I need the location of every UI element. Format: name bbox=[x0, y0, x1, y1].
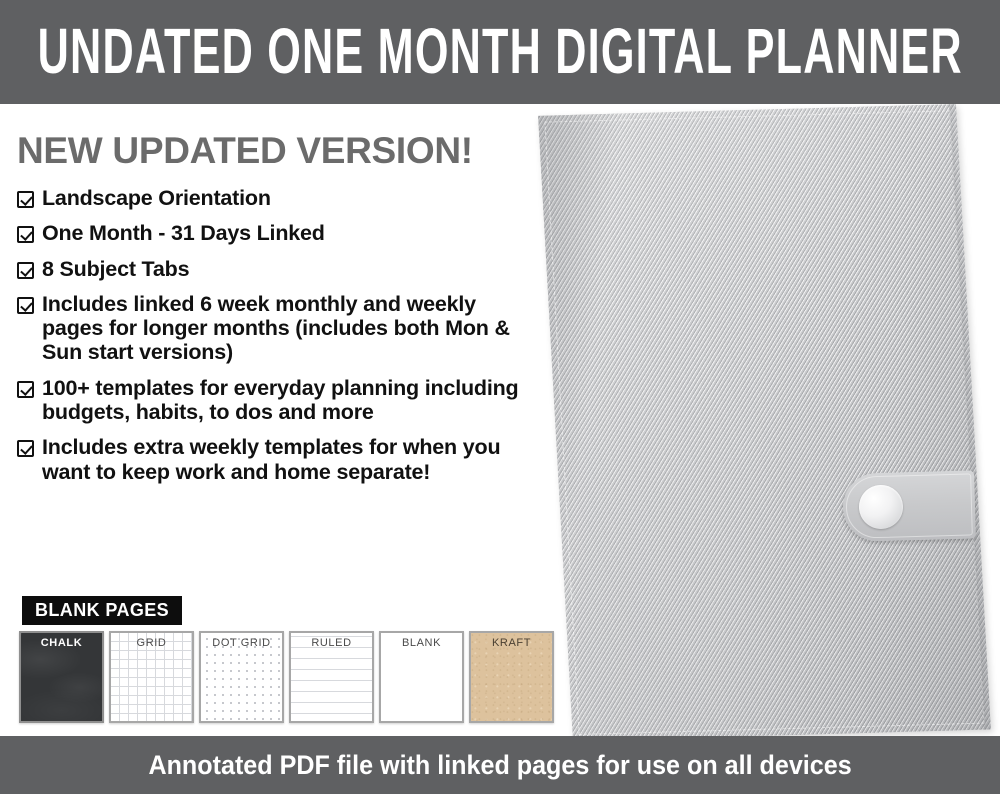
features-panel: NEW UPDATED VERSION! Landscape Orientati… bbox=[0, 104, 545, 736]
list-item: Includes linked 6 week monthly and weekl… bbox=[17, 292, 537, 365]
feature-label: Includes linked 6 week monthly and weekl… bbox=[42, 292, 537, 365]
header-banner: UNDATED ONE MONTH DIGITAL PLANNER bbox=[0, 0, 1000, 104]
strap-closure bbox=[842, 470, 976, 542]
list-item: One Month - 31 Days Linked bbox=[17, 221, 537, 245]
swatch-label: RULED bbox=[291, 638, 372, 649]
list-item: Landscape Orientation bbox=[17, 186, 537, 210]
checked-box-icon bbox=[17, 440, 34, 457]
swatch-ruled: RULED bbox=[289, 631, 374, 723]
cover-shading bbox=[538, 104, 991, 741]
swatch-chalk: CHALK bbox=[19, 631, 104, 723]
footer-banner: Annotated PDF file with linked pages for… bbox=[0, 736, 1000, 794]
page-title: UNDATED ONE MONTH DIGITAL PLANNER bbox=[37, 20, 962, 84]
feature-label: Includes extra weekly templates for when… bbox=[42, 435, 537, 484]
swatch-kraft: KRAFT bbox=[469, 631, 554, 723]
product-image bbox=[500, 104, 1000, 744]
feature-label: 8 Subject Tabs bbox=[42, 257, 189, 281]
feature-label: 100+ templates for everyday planning inc… bbox=[42, 376, 537, 425]
swatch-blank: BLANK bbox=[379, 631, 464, 723]
list-item: 100+ templates for everyday planning inc… bbox=[17, 376, 537, 425]
swatch-label: CHALK bbox=[21, 638, 102, 649]
footer-text: Annotated PDF file with linked pages for… bbox=[148, 752, 851, 779]
blank-pages-badge: BLANK PAGES bbox=[22, 596, 182, 625]
paper-swatch-row: CHALK GRID DOT GRID RULED BLANK KRAFT bbox=[19, 631, 554, 723]
feature-label: One Month - 31 Days Linked bbox=[42, 221, 325, 245]
list-item: 8 Subject Tabs bbox=[17, 257, 537, 281]
planner-cover bbox=[538, 104, 991, 741]
swatch-grid: GRID bbox=[109, 631, 194, 723]
swatch-label: BLANK bbox=[381, 638, 462, 649]
swatch-label: GRID bbox=[111, 638, 192, 649]
swatch-label: KRAFT bbox=[471, 638, 552, 649]
checked-box-icon bbox=[17, 191, 34, 208]
subheading: NEW UPDATED VERSION! bbox=[17, 132, 473, 169]
swatch-dot-grid: DOT GRID bbox=[199, 631, 284, 723]
product-listing-image: UNDATED ONE MONTH DIGITAL PLANNER NEW UP… bbox=[0, 0, 1000, 794]
checked-box-icon bbox=[17, 262, 34, 279]
checked-box-icon bbox=[17, 381, 34, 398]
checked-box-icon bbox=[17, 297, 34, 314]
swatch-label: DOT GRID bbox=[201, 638, 282, 649]
checked-box-icon bbox=[17, 226, 34, 243]
feature-list: Landscape Orientation One Month - 31 Day… bbox=[17, 186, 537, 495]
list-item: Includes extra weekly templates for when… bbox=[17, 435, 537, 484]
feature-label: Landscape Orientation bbox=[42, 186, 271, 210]
